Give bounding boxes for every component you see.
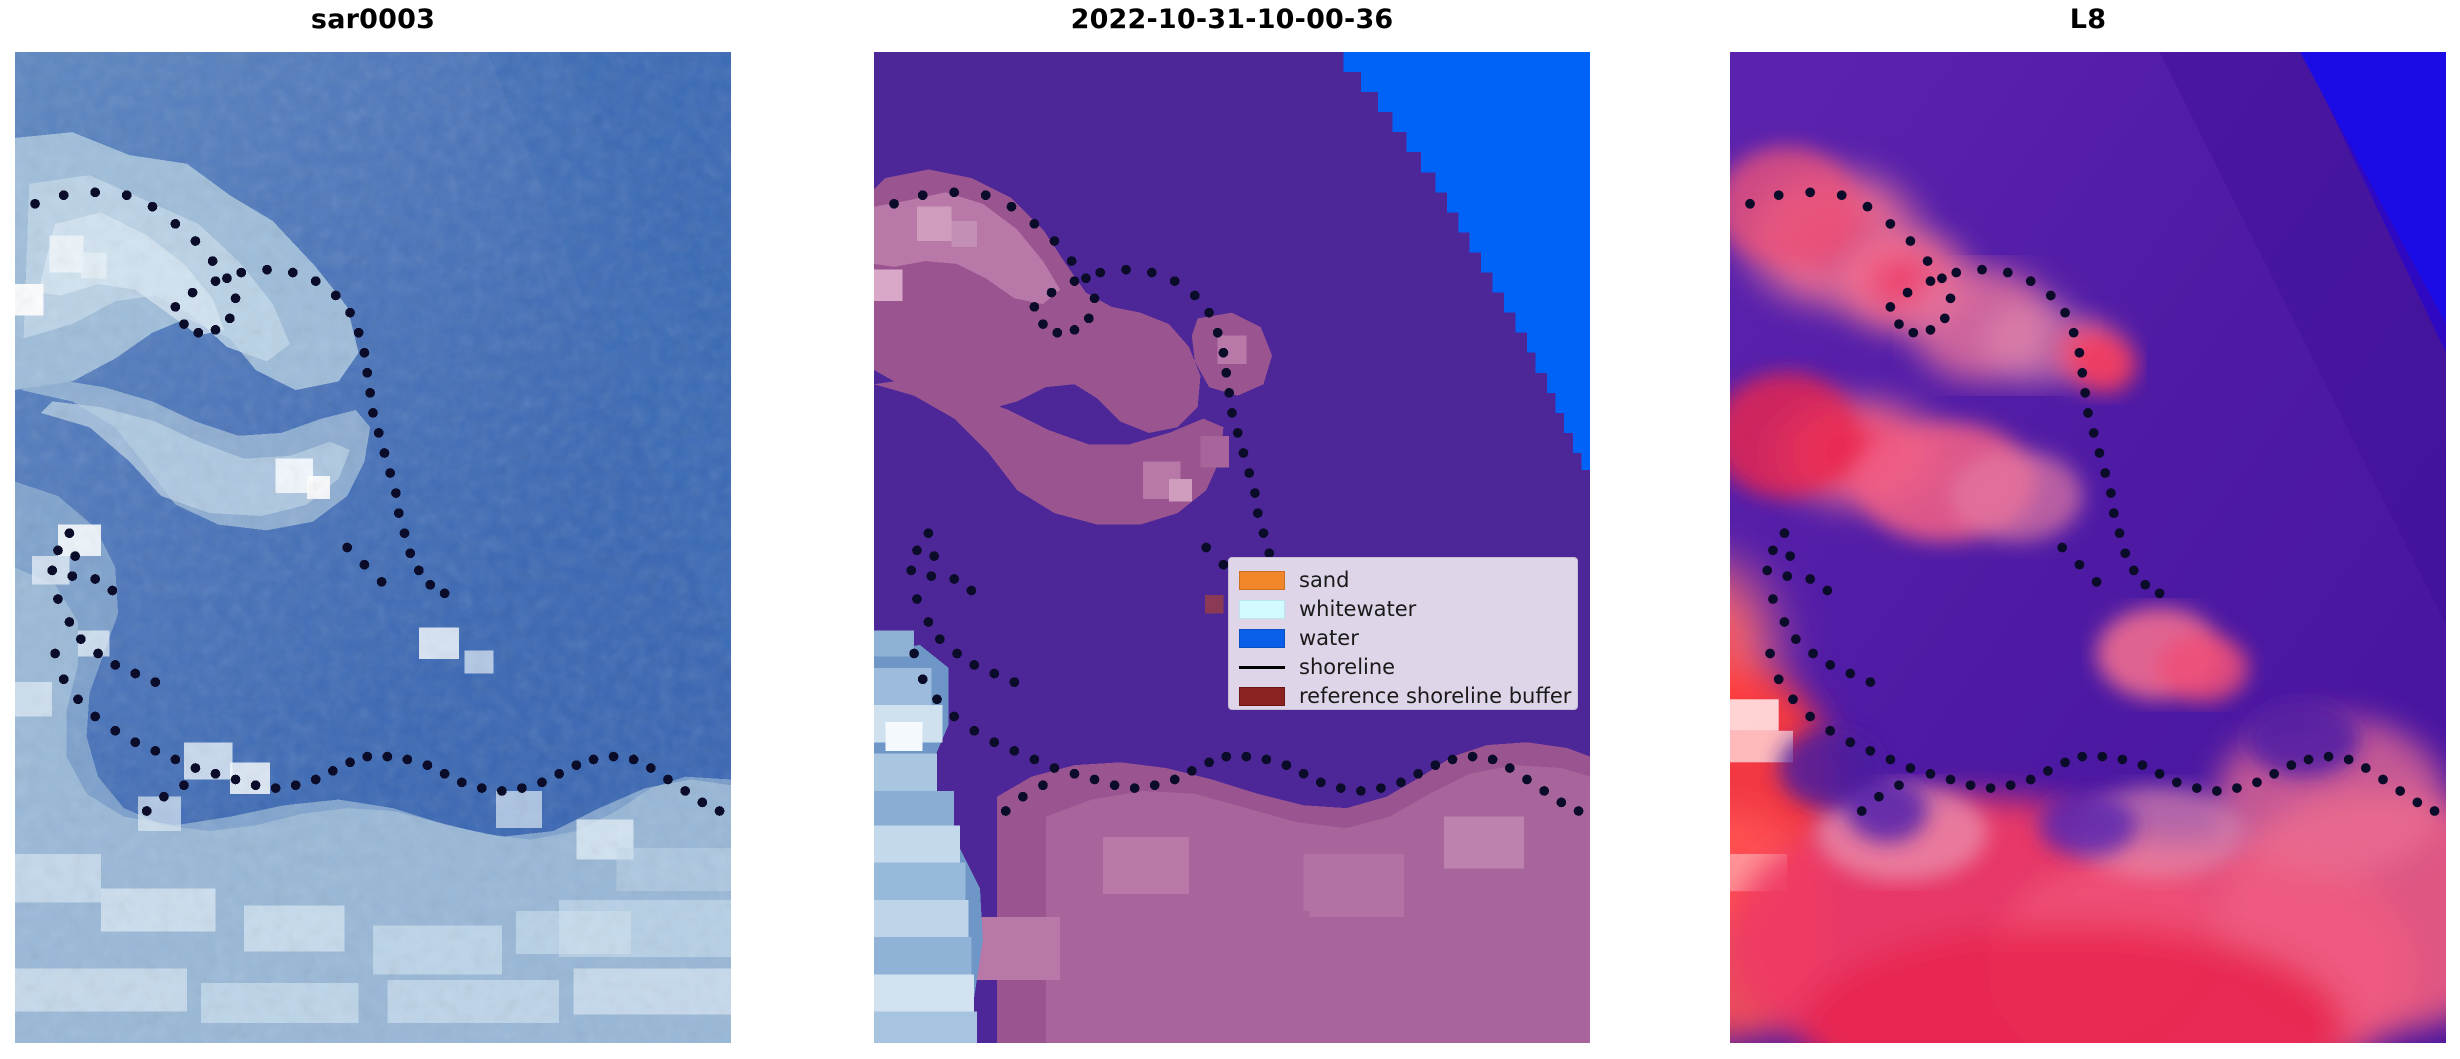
panel-classified-image: 2022-10-31-10-00-36 [874, 0, 1590, 1059]
classified-raster [874, 52, 1590, 1043]
buffer-swatch-icon [1239, 687, 1285, 706]
buffer-pixel [1205, 595, 1224, 614]
legend-item-reference-shoreline-buffer: reference shoreline buffer [1239, 682, 1567, 711]
panel-title-l8: L8 [1730, 0, 2446, 40]
legend-item-water: water [1239, 624, 1567, 653]
legend-label-reference-shoreline-buffer: reference shoreline buffer [1299, 686, 1571, 707]
legend-item-whitewater: whitewater [1239, 595, 1567, 624]
figure-canvas: sar0003 [0, 0, 2460, 1059]
l8-raster [1730, 52, 2446, 1043]
legend-label-sand: sand [1299, 570, 1349, 591]
legend-item-shoreline: shoreline [1239, 653, 1567, 682]
water-swatch-icon [1239, 629, 1285, 648]
panel-sar-image: sar0003 [15, 0, 731, 1059]
shoreline-line-icon [1239, 658, 1285, 677]
legend-label-whitewater: whitewater [1299, 599, 1416, 620]
sand-swatch-icon [1239, 571, 1285, 590]
whitewater-swatch-icon [1239, 600, 1285, 619]
legend: sand whitewater water shoreline referenc… [1228, 557, 1578, 710]
axes-l8[interactable] [1730, 52, 2446, 1043]
sar-raster [15, 52, 731, 1043]
axes-classified[interactable] [874, 52, 1590, 1043]
panel-title-classified: 2022-10-31-10-00-36 [874, 0, 1590, 40]
axes-sar[interactable] [15, 52, 731, 1043]
panel-l8-image: L8 [1730, 0, 2446, 1059]
legend-item-sand: sand [1239, 566, 1567, 595]
panel-title-sar: sar0003 [15, 0, 731, 40]
legend-label-shoreline: shoreline [1299, 657, 1395, 678]
legend-label-water: water [1299, 628, 1359, 649]
